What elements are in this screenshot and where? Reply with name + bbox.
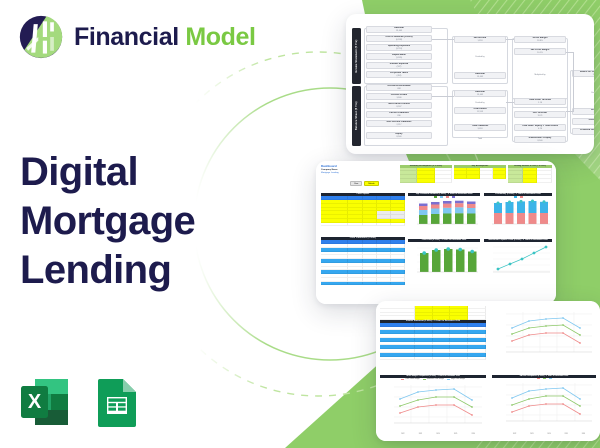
legend-item: Edge Case Margin [447, 378, 465, 381]
brand-logo[interactable]: Financial Model [18, 14, 256, 60]
panel-case-financials[interactable]: Case Financials ($ 000s) [321, 237, 405, 285]
tree-node: Revenue13,405 [366, 26, 432, 33]
tree-node: A/R Turnover19.21 [514, 111, 566, 118]
reports-body: Income Statement ($ 000s) - 5 Years to D… [376, 301, 600, 441]
brand-name-part1: Financial [74, 23, 179, 51]
bar-plot [484, 198, 552, 228]
legend-item [520, 196, 523, 197]
legend-item: Case Gross Margin [401, 378, 420, 381]
tree-node: Revenue13,405 [454, 72, 506, 79]
tree-node: Total Liabilities3,053 [454, 124, 506, 131]
tree-connector [506, 39, 514, 40]
legend-item [514, 196, 517, 197]
dashboard-refresh-button[interactable]: Refresh [364, 181, 378, 186]
panel-funding-mix[interactable]: Funding Sources & Uses ($ in 000s) [508, 165, 552, 183]
tree-formula: Divided by [572, 90, 594, 96]
page-title: Digital Mortgage Lending [20, 148, 195, 296]
legend-item [452, 196, 455, 197]
stacked-bar-plot [408, 198, 480, 228]
tree-node: Operating Expenses(3,718) [366, 44, 432, 51]
dashboard-screenshot[interactable]: Dashboard Company Name Mortgage Lending … [316, 161, 556, 304]
tree-node: Financial Leverage multiplier1.36 [572, 128, 594, 135]
tree-node: Revenue13,405 [454, 90, 506, 97]
tree-node: Net Income1,353 [454, 36, 506, 43]
line-plot [492, 379, 596, 431]
svg-text:X: X [28, 391, 42, 413]
google-sheets-file-icon[interactable] [90, 375, 144, 429]
left-veil-fade [196, 0, 266, 448]
chart-ebitda-comparison[interactable]: EBITDA Comparison ($ 000s) - 5 Years to … [492, 375, 596, 437]
tree-node: Current Ratio4.00 [572, 118, 594, 125]
panel-income-statement[interactable]: Income Statement ($ 000s) - 5 Years to D… [380, 306, 486, 360]
chart-gross-margin-comparison[interactable]: Gross Margin Comparison ($ 000s) - 5 Yea… [380, 375, 486, 437]
reports-screenshot[interactable]: Income Statement ($ 000s) - 5 Years to D… [376, 301, 600, 441]
chart-profitability[interactable]: Profitability ($ 000s) - 5 Years to Dece… [484, 193, 552, 235]
tree-band-balance-sheet: Balance Sheet (5 Yrs) [352, 86, 361, 146]
tree-node: Corporate Taxes(424) [366, 71, 432, 78]
slide-canvas: Financial Model Digital Mortgage Lending… [0, 0, 600, 448]
line-plot [492, 306, 596, 362]
bar-plot [408, 242, 480, 276]
chart-title: Top 5 Revenue Streams ($ 000s) - 5 Years… [408, 193, 480, 196]
panel-case-inputs[interactable]: Case Inputs [321, 193, 405, 226]
chart-cash-flow[interactable]: Cash Flow ($ 000s) - 5 Years to December… [408, 239, 480, 281]
tree-node: Cost of Revenue (COGS)(6,188) [366, 35, 432, 42]
dashboard-segment: Mortgage Lending [321, 172, 339, 175]
tree-node: Current Liabilities836 [366, 111, 432, 118]
line-plot [380, 381, 486, 433]
excel-file-icon[interactable]: X [18, 375, 72, 429]
chart-investment-payback[interactable]: Investment Payback Chart ($ 000s) - 5 Ye… [484, 239, 552, 281]
tree-connector [506, 102, 514, 103]
chart-revenue-streams[interactable]: Top 5 Revenue Streams ($ 000s) - 5 Years… [408, 193, 480, 235]
filetype-icon-group: X [18, 375, 144, 429]
tree-formula: Divided by [454, 54, 506, 61]
title-line-1: Digital [20, 148, 195, 197]
tree-connector [432, 96, 454, 97]
tree-node: Accounts Receivable698 [366, 84, 432, 91]
legend-item [440, 196, 443, 197]
chart-title: Investment Payback Chart ($ 000s) - 5 Ye… [484, 239, 552, 242]
tree-node: Current Assets3,346 [366, 93, 432, 100]
dupont-tree-screenshot[interactable]: Income Statement (5 Yrs) Balance Sheet (… [346, 14, 594, 154]
tree-node: Shareholder's Equity8,540 [514, 136, 566, 143]
brand-name-part2: Model [185, 23, 255, 51]
dupont-tree: Income Statement (5 Yrs) Balance Sheet (… [346, 14, 594, 154]
legend-item [446, 196, 449, 197]
legend-item [549, 378, 552, 379]
brand-wordmark: Financial Model [74, 25, 256, 50]
pie-bar-chart-logo-icon [18, 14, 64, 60]
tree-formula: Divided by [454, 100, 506, 106]
tree-node: Total Assets11,593 [454, 107, 506, 114]
legend-item: Moderate Case Margin [423, 378, 444, 381]
tree-node: Gross Margin53.8% [514, 36, 566, 43]
dashboard-clear-button[interactable]: Clear [350, 181, 362, 186]
tree-formula: Total [454, 136, 506, 142]
legend-item [537, 378, 540, 379]
tree-node: Net Profit Margin10.1% [514, 48, 566, 55]
tree-node: Total Debt / Equity + Total Assets0.26 [514, 124, 566, 131]
tree-node: Non-Current Liabilities2,217 [366, 120, 432, 127]
title-line-2: Mortgage [20, 197, 195, 246]
panel-key-assumptions[interactable]: Key Assumptions [454, 165, 506, 179]
tree-node: Non-Current Assets8,247 [366, 102, 432, 109]
tree-node: Depreciation(1,185) [366, 53, 432, 60]
chart-x-axis: 20222023202420252026 [506, 434, 592, 435]
tree-node: Leverage1.36x [572, 108, 594, 115]
legend-item [434, 196, 437, 197]
chart-revenue-comparison[interactable] [492, 306, 596, 364]
title-line-3: Lending [20, 246, 195, 295]
tree-node: Return on Total Assets (ROA)11.67% [572, 70, 594, 77]
tree-connector [432, 39, 454, 40]
tree-node: Total Asset Turnover1.16 [514, 98, 566, 105]
tree-formula: Multiplied by [514, 72, 566, 78]
legend-item [543, 378, 546, 379]
tree-node: Equity8,540 [366, 132, 432, 139]
line-plot [484, 242, 552, 276]
panel-summary-inputs[interactable]: Summary Assumptions ($ in 000s) [400, 165, 452, 183]
tree-connector [566, 84, 574, 112]
dashboard-body: Dashboard Company Name Mortgage Lending … [316, 161, 556, 304]
chart-x-axis: 20222023202420252026 [394, 434, 482, 435]
tree-node: Interest Expense(537) [366, 62, 432, 69]
tree-connector [566, 52, 574, 84]
tree-band-income-statement: Income Statement (5 Yrs) [352, 28, 361, 84]
